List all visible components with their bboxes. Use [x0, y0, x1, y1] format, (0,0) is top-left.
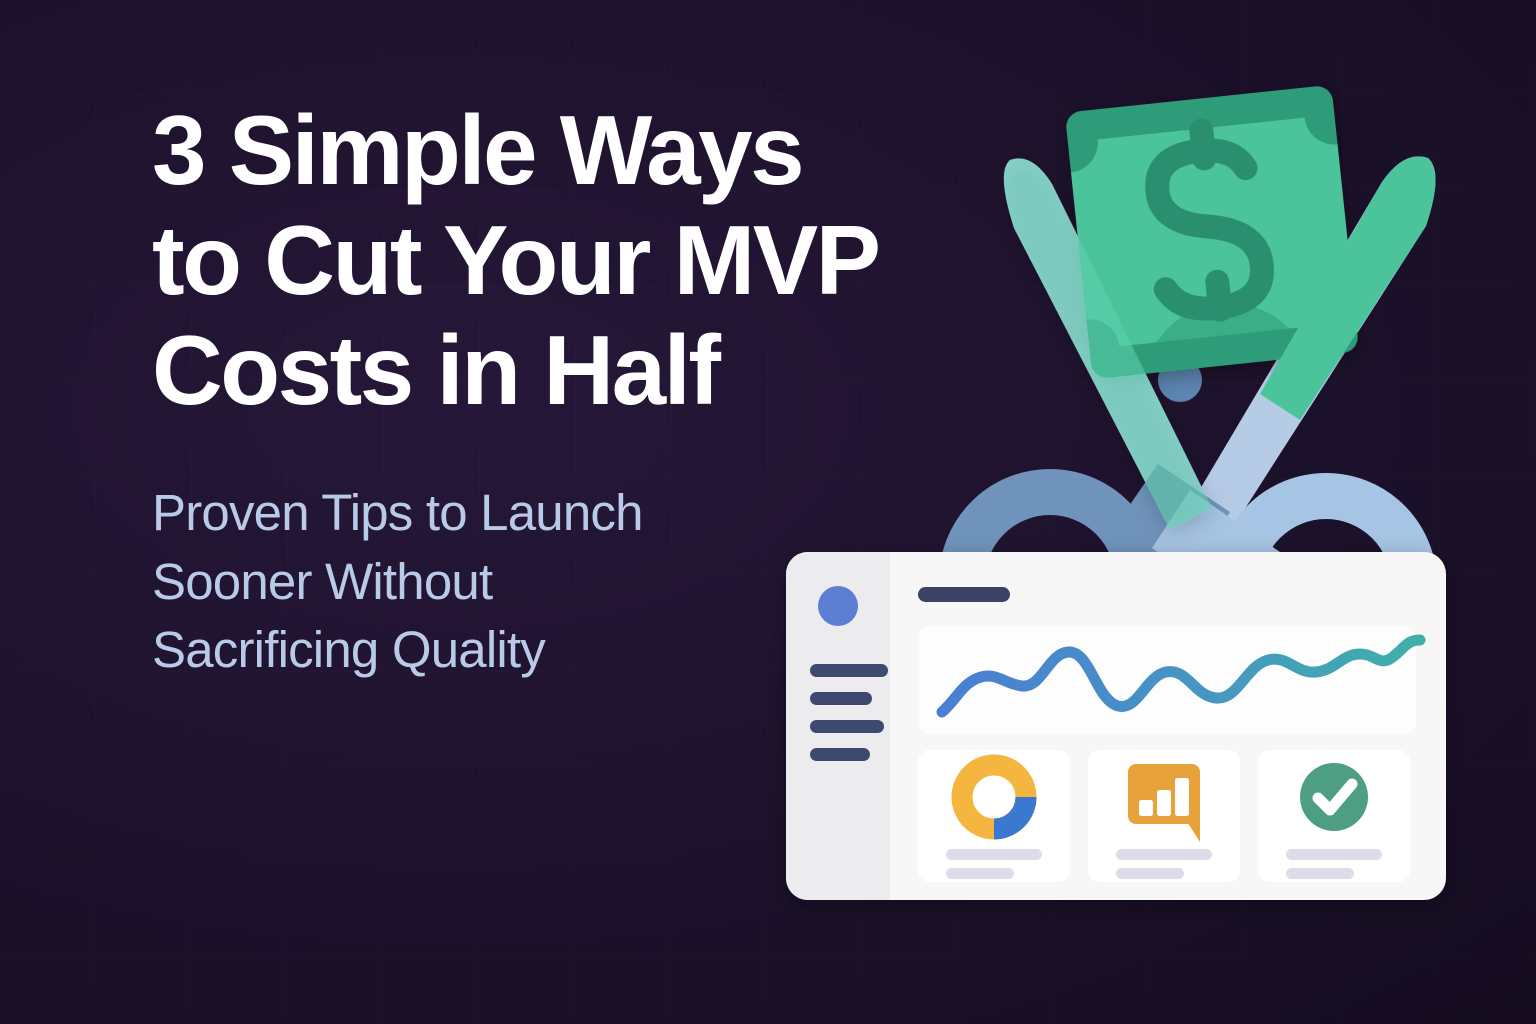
check-circle-tile[interactable]: [1258, 750, 1410, 882]
sidebar-item-2[interactable]: [810, 692, 872, 705]
placeholder-bar: [1116, 849, 1212, 860]
placeholder-bar: [946, 868, 1014, 879]
illustration: [760, 60, 1480, 940]
sidebar-item-3[interactable]: [810, 720, 884, 733]
sidebar-item-4[interactable]: [810, 748, 870, 761]
placeholder-bar: [1286, 868, 1354, 879]
sidebar-item-1[interactable]: [810, 664, 888, 677]
hero-banner: 3 Simple Ways to Cut Your MVP Costs in H…: [0, 0, 1536, 1024]
check-circle-icon: [1300, 763, 1368, 831]
avatar: [818, 586, 858, 626]
donut-chart-tile[interactable]: [918, 750, 1070, 882]
placeholder-bar: [1286, 849, 1382, 860]
placeholder-bar: [1116, 868, 1184, 879]
bar-chart-bubble-tile[interactable]: [1088, 750, 1240, 882]
dashboard-mockup: [786, 552, 1446, 900]
placeholder-bar: [946, 849, 1042, 860]
dashboard-header-pill: [918, 587, 1010, 602]
